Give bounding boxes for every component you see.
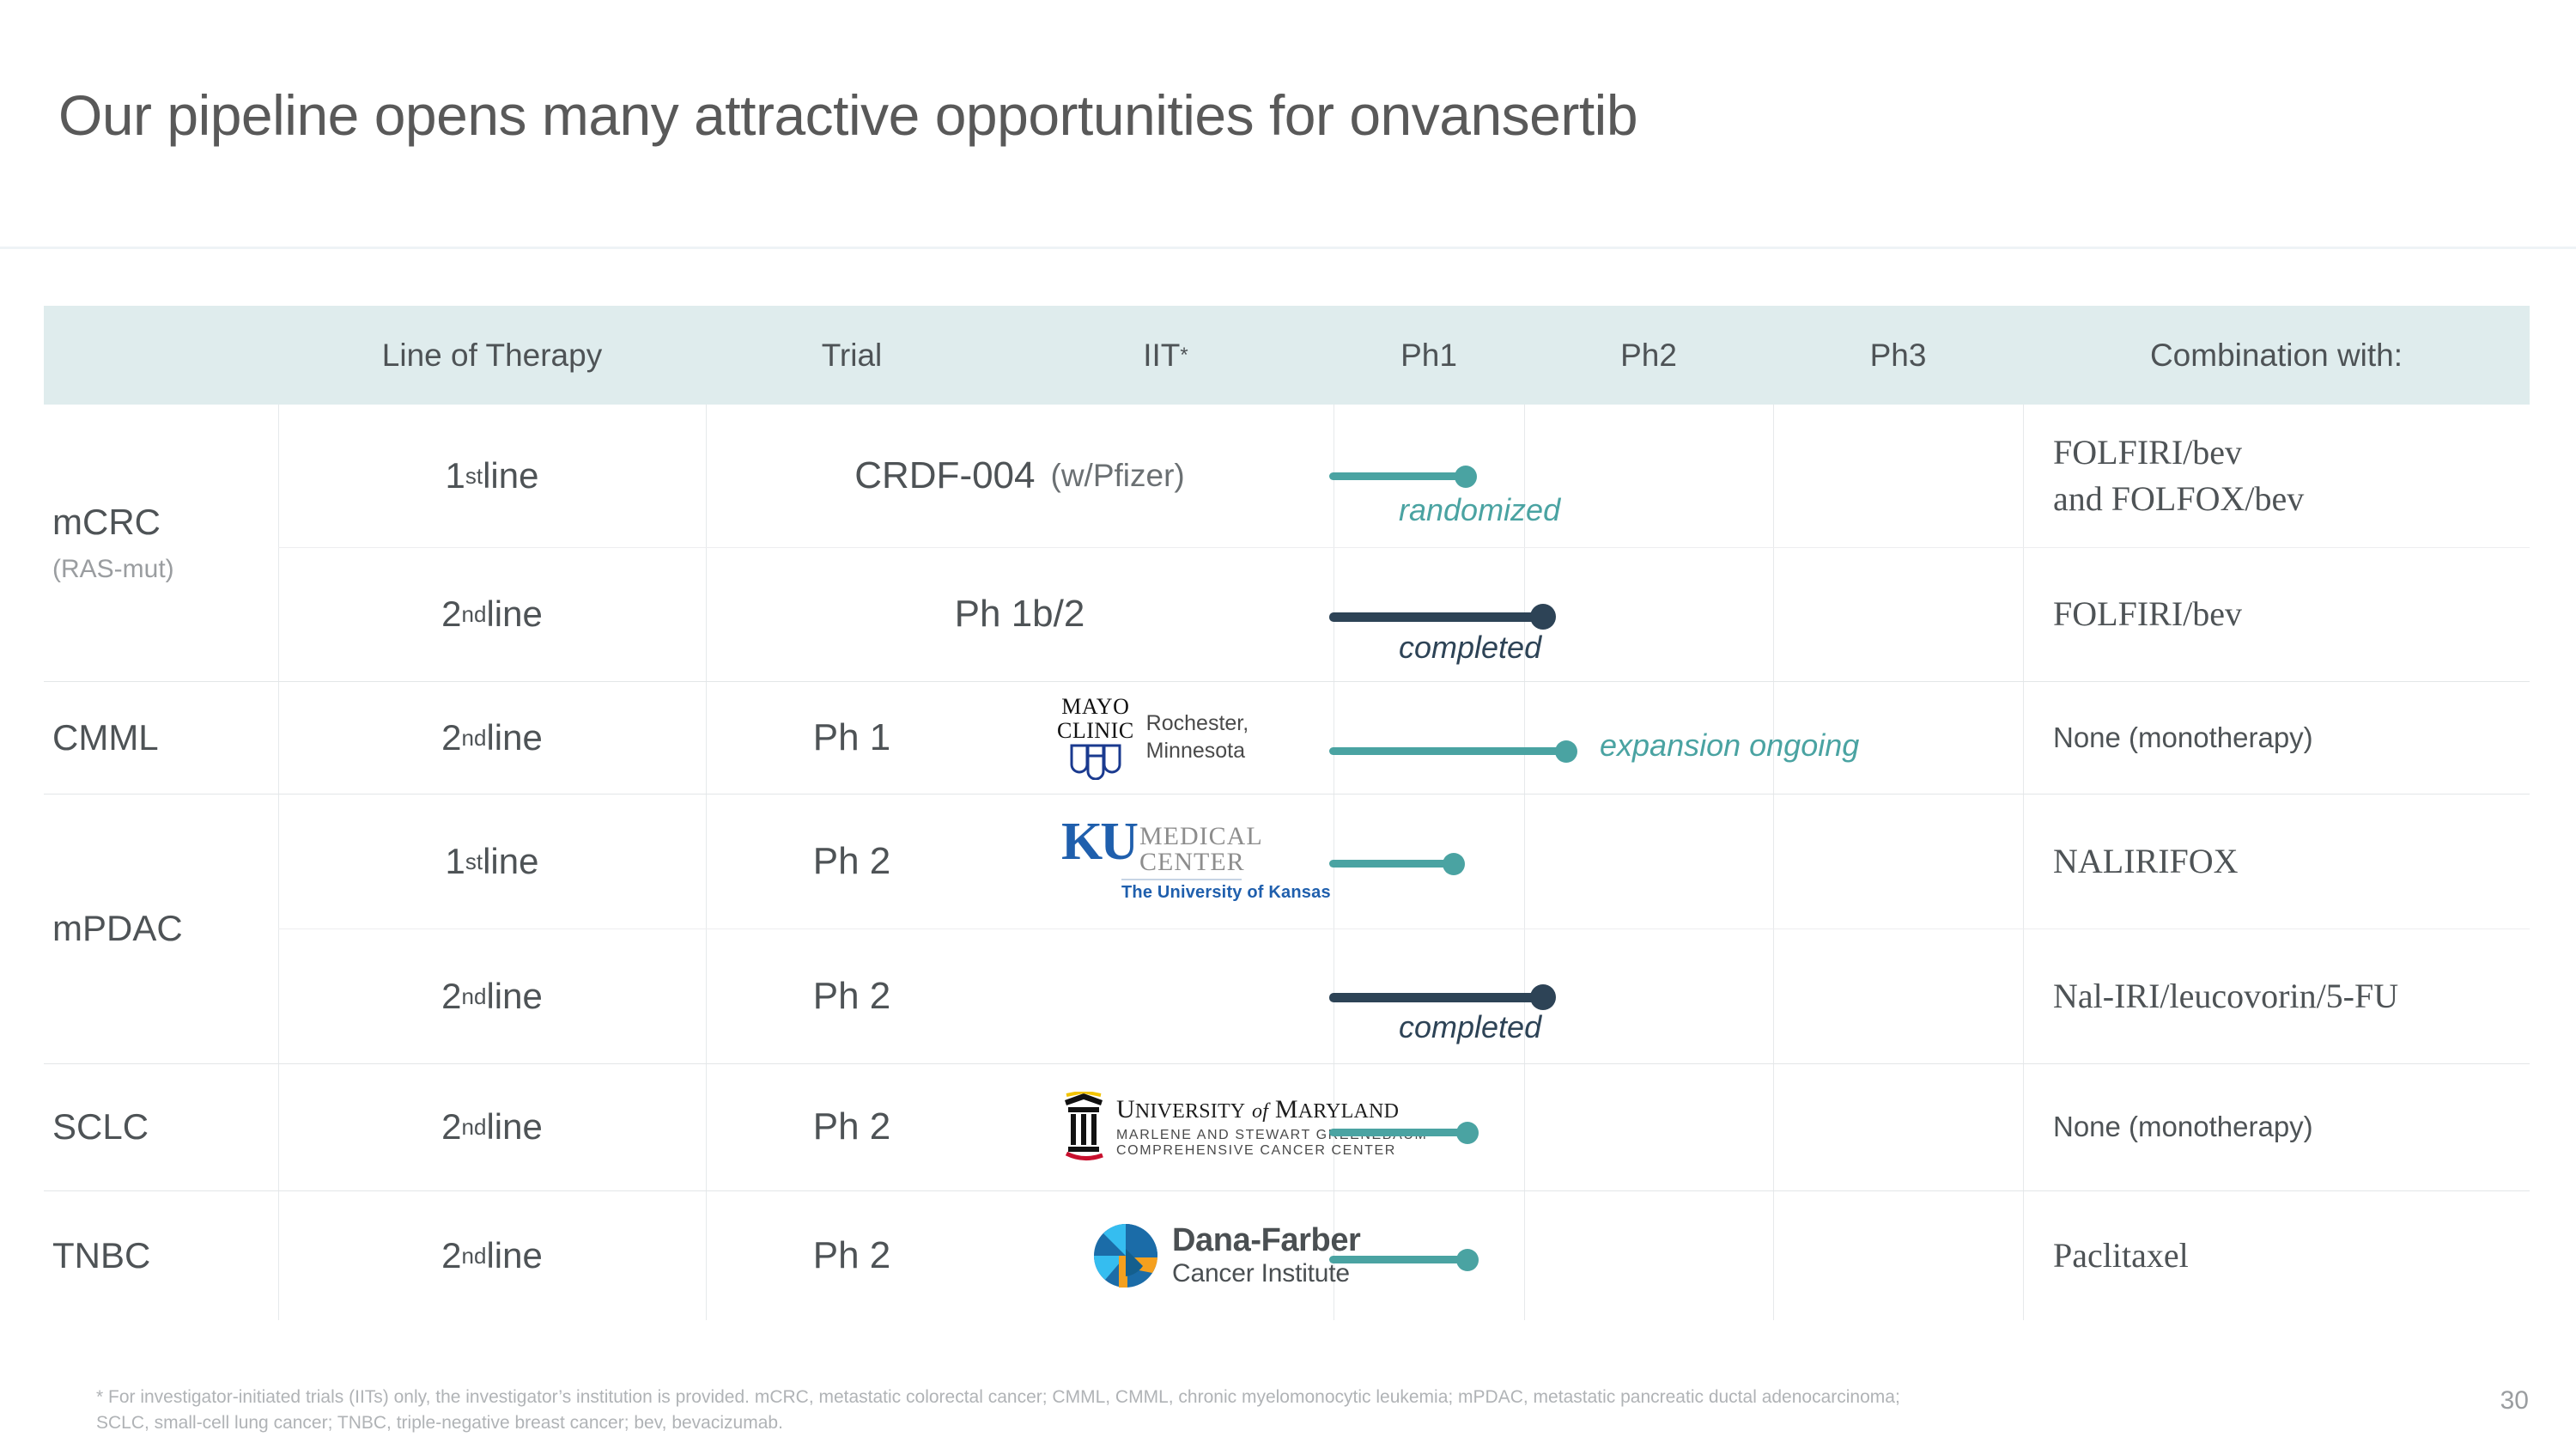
trial-mpdac-2l: Ph 2 xyxy=(706,928,998,1063)
combination-mcrc-2l: FOLFIRI/bev xyxy=(2053,547,2534,681)
line-suffix: line xyxy=(486,594,542,635)
line-number: 1 xyxy=(446,455,465,496)
line-of-therapy-sclc: 2nd line xyxy=(278,1063,706,1190)
line-of-therapy-mcrc-1l: 1st line xyxy=(278,405,706,547)
ku-divider xyxy=(1121,879,1242,880)
trial-mcrc-1l: CRDF-004 (w/Pfizer) xyxy=(706,405,1334,547)
timeline-endpoint-tnbc xyxy=(1456,1249,1479,1271)
trial-mpdac-1l: Ph 2 xyxy=(706,794,998,928)
trial-partner-note: (w/Pfizer) xyxy=(1051,458,1185,494)
table-body: mCRC (RAS-mut) 1st line CRDF-004 (w/Pfiz… xyxy=(44,405,2530,1320)
combination-text: None (monotherapy) xyxy=(2053,1111,2313,1143)
timeline-bar-tnbc xyxy=(1329,1256,1467,1263)
pipeline-table: Line of Therapy Trial IIT* Ph1 Ph2 Ph3 C… xyxy=(44,306,2530,1320)
ku-monogram: KU xyxy=(1061,820,1136,864)
status-label-cmml: expansion ongoing xyxy=(1600,728,1859,764)
timeline-bar-mpdac-2l xyxy=(1329,993,1544,1002)
indication-label: mPDAC xyxy=(52,908,278,949)
combination-mcrc-1l: FOLFIRI/bev and FOLFOX/bev xyxy=(2053,405,2534,547)
combination-text: Nal-IRI/leucovorin/5-FU xyxy=(2053,973,2398,1020)
slide-root: Our pipeline opens many attractive oppor… xyxy=(0,0,2576,1449)
timeline-endpoint-mcrc-2l xyxy=(1530,604,1556,630)
footnote-line-2: SCLC, small-cell lung cancer; TNBC, trip… xyxy=(96,1410,2329,1436)
indication-tnbc: TNBC xyxy=(44,1190,278,1320)
timeline-endpoint-sclc xyxy=(1456,1122,1479,1144)
line-number: 2 xyxy=(441,594,461,635)
ku-wordmark: MEDICALCENTER xyxy=(1139,824,1263,875)
combination-text: Paclitaxel xyxy=(2053,1233,2189,1279)
line-number: 1 xyxy=(446,841,465,882)
col-header-ph3: Ph3 xyxy=(1773,306,2023,405)
line-suffix: line xyxy=(486,717,542,758)
timeline-endpoint-mcrc-1l xyxy=(1455,466,1477,488)
line-number: 2 xyxy=(441,1106,461,1148)
timeline-bar-mcrc-2l xyxy=(1329,612,1544,622)
combination-text: None (monotherapy) xyxy=(2053,721,2313,754)
col-divider-ph2-ph3 xyxy=(1773,405,1774,1320)
col-header-ph2: Ph2 xyxy=(1524,306,1773,405)
umd-sub-line-2: COMPREHENSIVE CANCER CENTER xyxy=(1116,1143,1427,1159)
table-header-row: Line of Therapy Trial IIT* Ph1 Ph2 Ph3 C… xyxy=(44,306,2530,405)
trial-cmml: Ph 1 xyxy=(706,681,998,794)
status-label-mcrc-2l: completed xyxy=(1399,630,1541,666)
indication-label: SCLC xyxy=(52,1106,278,1148)
line-suffix: line xyxy=(486,976,542,1017)
line-of-therapy-cmml: 2nd line xyxy=(278,681,706,794)
timeline-endpoint-mpdac-2l xyxy=(1530,984,1556,1010)
trial-mcrc-2l: Ph 1b/2 xyxy=(706,547,1334,681)
combination-mpdac-2l: Nal-IRI/leucovorin/5-FU xyxy=(2053,928,2576,1063)
timeline-endpoint-mpdac-1l xyxy=(1443,853,1465,875)
line-suffix: line xyxy=(486,1106,542,1148)
line-of-therapy-mpdac-1l: 1st line xyxy=(278,794,706,928)
line-of-therapy-tnbc: 2nd line xyxy=(278,1190,706,1320)
col-header-ph1: Ph1 xyxy=(1334,306,1524,405)
col-header-trial: Trial xyxy=(706,306,998,405)
indication-label: CMML xyxy=(52,717,278,758)
indication-mcrc: mCRC (RAS-mut) xyxy=(44,405,278,681)
col-header-combination: Combination with: xyxy=(2023,306,2530,405)
col-divider-ph1-ph2 xyxy=(1524,405,1525,1320)
combination-text: FOLFIRI/bev and FOLFOX/bev xyxy=(2053,429,2304,522)
trial-name: Ph 2 xyxy=(813,1105,891,1148)
footnote-line-1: * For investigator-initiated trials (IIT… xyxy=(96,1385,2329,1410)
indication-sclc: SCLC xyxy=(44,1063,278,1190)
mayo-clinic-logo: MAYOCLINIC Rochester,Minnesota xyxy=(1057,681,1249,794)
line-suffix: line xyxy=(483,841,538,882)
timeline-bar-mpdac-1l xyxy=(1329,860,1454,868)
trial-name: Ph 1 xyxy=(813,716,891,759)
line-suffix: line xyxy=(483,455,538,496)
mayo-clinic-location: Rochester,Minnesota xyxy=(1146,710,1249,764)
mayo-shield-icon xyxy=(1068,742,1123,780)
status-label-mpdac-2l: completed xyxy=(1399,1009,1541,1045)
combination-text: NALIRIFOX xyxy=(2053,838,2239,885)
line-number: 2 xyxy=(441,717,461,758)
mayo-clinic-icon: MAYOCLINIC xyxy=(1057,695,1134,780)
trial-tnbc: Ph 2 xyxy=(706,1190,998,1320)
trial-name: Ph 2 xyxy=(813,840,891,883)
dana-farber-logo: Dana-Farber Cancer Institute xyxy=(1093,1190,1360,1320)
col-divider-4 xyxy=(2023,405,2024,1320)
col-header-iit-label: IIT xyxy=(1143,338,1180,374)
trial-name: CRDF-004 xyxy=(854,454,1035,497)
status-label-mcrc-1l: randomized xyxy=(1399,492,1560,528)
combination-line-1: FOLFIRI/bev xyxy=(2053,433,2242,472)
line-number: 2 xyxy=(441,976,461,1017)
dana-farber-icon xyxy=(1093,1223,1158,1288)
line-suffix: line xyxy=(486,1235,542,1276)
footnote: * For investigator-initiated trials (IIT… xyxy=(96,1385,2329,1437)
indication-sublabel: (RAS-mut) xyxy=(52,555,278,584)
combination-sclc: None (monotherapy) xyxy=(2053,1063,2534,1190)
combination-line-2: and FOLFOX/bev xyxy=(2053,479,2304,518)
trial-name: Ph 2 xyxy=(813,1234,891,1277)
line-of-therapy-mpdac-2l: 2nd line xyxy=(278,928,706,1063)
col-header-iit: IIT* xyxy=(998,306,1334,405)
page-number: 30 xyxy=(2500,1386,2529,1416)
dana-farber-subtitle: Cancer Institute xyxy=(1172,1259,1360,1288)
trial-name: Ph 1b/2 xyxy=(955,593,1085,636)
combination-cmml: None (monotherapy) xyxy=(2053,681,2534,794)
trial-name: Ph 2 xyxy=(813,975,891,1018)
trial-sclc: Ph 2 xyxy=(706,1063,998,1190)
indication-mpdac: mPDAC xyxy=(44,794,278,1063)
ku-tagline: The University of Kansas xyxy=(1121,883,1331,903)
umd-column-icon xyxy=(1061,1092,1106,1162)
university-of-maryland-logo: UNIVERSITY of MARYLAND MARLENE AND STEWA… xyxy=(1061,1063,1427,1190)
line-number: 2 xyxy=(441,1235,461,1276)
line-of-therapy-mcrc-2l: 2nd line xyxy=(278,547,706,681)
combination-mpdac-1l: NALIRIFOX xyxy=(2053,794,2534,928)
dana-farber-wordmark: Dana-Farber xyxy=(1172,1222,1360,1259)
timeline-endpoint-cmml xyxy=(1555,740,1577,763)
timeline-bar-cmml xyxy=(1329,747,1566,755)
mayo-wordmark: MAYOCLINIC xyxy=(1057,695,1134,742)
timeline-bar-sclc xyxy=(1329,1129,1467,1136)
timeline-bar-mcrc-1l xyxy=(1329,472,1465,480)
page-title: Our pipeline opens many attractive oppor… xyxy=(58,82,1637,148)
ku-medical-center-logo: KU MEDICALCENTER The University of Kansa… xyxy=(1061,794,1331,928)
title-band: Our pipeline opens many attractive oppor… xyxy=(0,0,2576,249)
combination-tnbc: Paclitaxel xyxy=(2053,1190,2534,1320)
indication-cmml: CMML xyxy=(44,681,278,794)
combination-text: FOLFIRI/bev xyxy=(2053,591,2242,637)
col-header-line-of-therapy: Line of Therapy xyxy=(278,306,706,405)
umd-wordmark: UNIVERSITY of MARYLAND xyxy=(1116,1095,1427,1124)
indication-label: TNBC xyxy=(52,1235,278,1276)
indication-label: mCRC xyxy=(52,502,278,543)
